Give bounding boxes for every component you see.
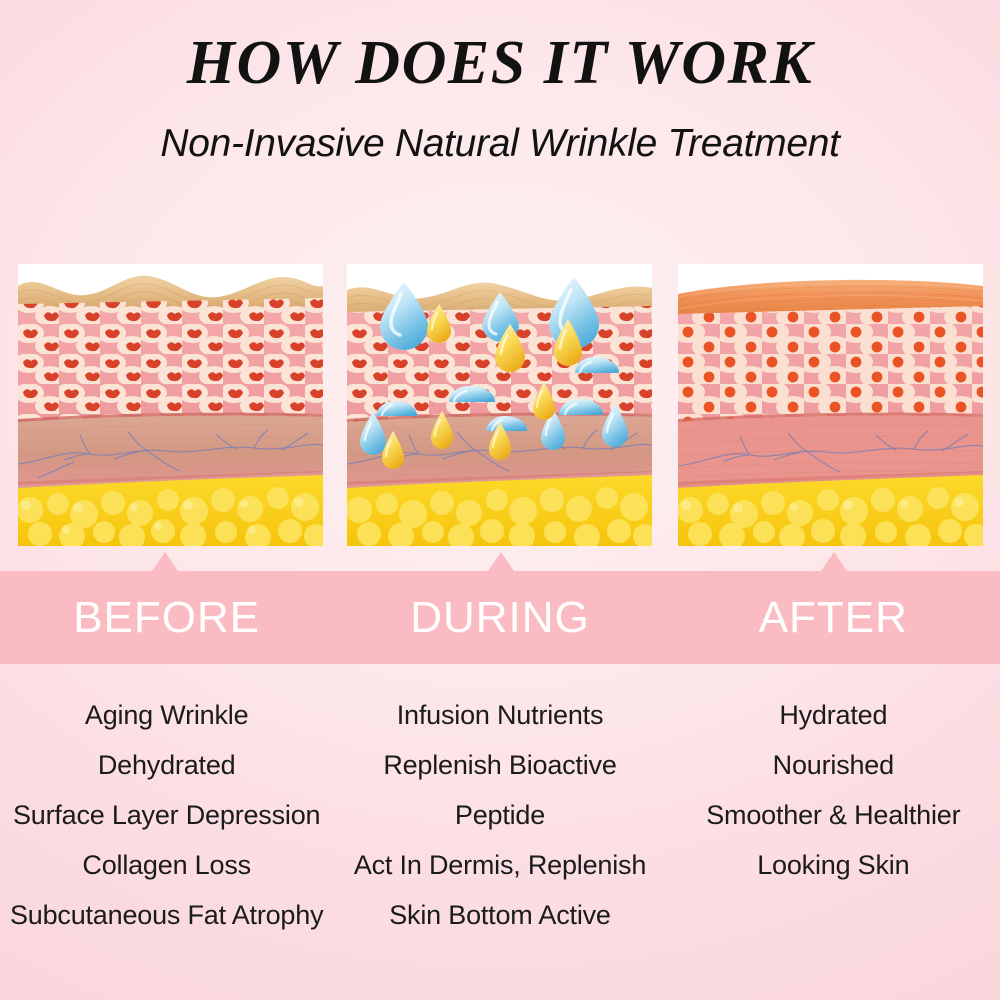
stage-label-band: BEFORE DURING AFTER xyxy=(0,571,1000,664)
stage-label-during: DURING xyxy=(333,571,666,664)
list-item: Hydrated xyxy=(667,690,1000,740)
list-item: Subcutaneous Fat Atrophy xyxy=(0,890,333,940)
list-item: Skin Bottom Active xyxy=(333,890,666,940)
skin-cross-section-during xyxy=(347,264,652,546)
list-item: Peptide xyxy=(333,790,666,840)
list-item: Nourished xyxy=(667,740,1000,790)
stage-description-columns: Aging Wrinkle Dehydrated Surface Layer D… xyxy=(0,690,1000,940)
list-item: Dehydrated xyxy=(0,740,333,790)
list-item: Smoother & Healthier xyxy=(667,790,1000,840)
pointer-notch-during xyxy=(488,552,514,571)
skin-diagram-row xyxy=(0,264,1000,546)
list-item: Surface Layer Depression xyxy=(0,790,333,840)
pointer-notch-after xyxy=(821,552,847,571)
stage-items-during: Infusion Nutrients Replenish Bioactive P… xyxy=(333,690,666,940)
list-item: Aging Wrinkle xyxy=(0,690,333,740)
stage-items-before: Aging Wrinkle Dehydrated Surface Layer D… xyxy=(0,690,333,940)
skin-cross-section-before xyxy=(18,264,323,546)
list-item: Collagen Loss xyxy=(0,840,333,890)
stage-label-after: AFTER xyxy=(667,571,1000,664)
list-item: Infusion Nutrients xyxy=(333,690,666,740)
pointer-notch-before xyxy=(152,552,178,571)
list-item: Replenish Bioactive xyxy=(333,740,666,790)
stage-items-after: Hydrated Nourished Smoother & Healthier … xyxy=(667,690,1000,940)
page-title: HOW DOES IT WORK xyxy=(0,32,1000,94)
list-item: Looking Skin xyxy=(667,840,1000,890)
stage-label-before: BEFORE xyxy=(0,571,333,664)
page-subtitle: Non-Invasive Natural Wrinkle Treatment xyxy=(0,122,1000,166)
header: HOW DOES IT WORK Non-Invasive Natural Wr… xyxy=(0,0,1000,166)
skin-cross-section-after xyxy=(678,264,983,546)
list-item: Act In Dermis, Replenish xyxy=(333,840,666,890)
